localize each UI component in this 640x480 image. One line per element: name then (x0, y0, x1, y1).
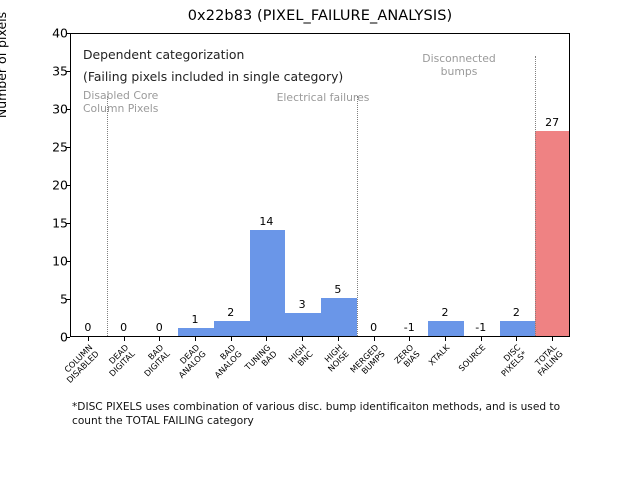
x-tick-mark (302, 337, 303, 341)
bar[interactable] (250, 230, 286, 336)
bar[interactable] (535, 131, 569, 336)
divider-line (107, 96, 108, 336)
bar-value-label: 2 (442, 306, 449, 319)
x-tick-mark (481, 337, 482, 341)
y-tick-label: 35 (8, 64, 68, 79)
bar-value-label: 2 (227, 306, 234, 319)
x-tick-mark (159, 337, 160, 341)
x-tick-mark (409, 337, 410, 341)
x-tick-mark (88, 337, 89, 341)
annotation-failing-pixels-note: (Failing pixels included in single categ… (83, 69, 343, 84)
x-tick-mark (338, 337, 339, 341)
plot-area: Dependent categorization (Failing pixels… (70, 33, 570, 337)
y-tick-label: 20 (8, 178, 68, 193)
annotation-dependent-categorization: Dependent categorization (83, 47, 244, 62)
bar-value-label: 2 (513, 306, 520, 319)
x-tick-mark (124, 337, 125, 341)
bar-value-label: 0 (120, 321, 127, 334)
y-tick-label: 0 (8, 330, 68, 345)
y-tick-label: 10 (8, 254, 68, 269)
bar-value-label: -1 (475, 321, 486, 334)
bar-value-label: -1 (404, 321, 415, 334)
y-tick-label: 5 (8, 292, 68, 307)
bar[interactable] (428, 321, 464, 336)
x-tick-mark (374, 337, 375, 341)
x-tick-mark (516, 337, 517, 341)
chart-figure: 0x22b83 (PIXEL_FAILURE_ANALYSIS) Number … (0, 0, 640, 480)
bar-value-label: 14 (259, 215, 273, 228)
bar[interactable] (500, 321, 536, 336)
x-tick-mark (195, 337, 196, 341)
annotation-group-disabled-core: Disabled Core Column Pixels (83, 90, 158, 115)
y-tick-label: 40 (8, 26, 68, 41)
x-tick-mark (231, 337, 232, 341)
annotation-group-electrical-failures: Electrical failures (277, 92, 370, 105)
bar-value-label: 1 (192, 313, 199, 326)
bar-value-label: 0 (84, 321, 91, 334)
bar[interactable] (285, 313, 321, 336)
x-tick-mark (552, 337, 553, 341)
bar-value-label: 0 (156, 321, 163, 334)
y-tick-label: 25 (8, 140, 68, 155)
y-tick-label: 30 (8, 102, 68, 117)
bar[interactable] (178, 328, 214, 336)
divider-line (535, 56, 536, 336)
bar[interactable] (321, 298, 357, 336)
x-tick-mark (266, 337, 267, 341)
plot-inner: Dependent categorization (Failing pixels… (71, 34, 569, 336)
page-title: 0x22b83 (PIXEL_FAILURE_ANALYSIS) (0, 8, 640, 24)
bar-value-label: 5 (334, 283, 341, 296)
y-tick-mark (66, 337, 70, 338)
divider-line (357, 96, 358, 336)
bar-value-label: 3 (299, 298, 306, 311)
bar[interactable] (214, 321, 250, 336)
bar-value-label: 27 (545, 116, 559, 129)
annotation-group-disconnected-bumps: Disconnected bumps (422, 53, 495, 78)
y-tick-label: 15 (8, 216, 68, 231)
footnote: *DISC PIXELS uses combination of various… (72, 400, 572, 428)
bar-value-label: 0 (370, 321, 377, 334)
x-tick-mark (445, 337, 446, 341)
